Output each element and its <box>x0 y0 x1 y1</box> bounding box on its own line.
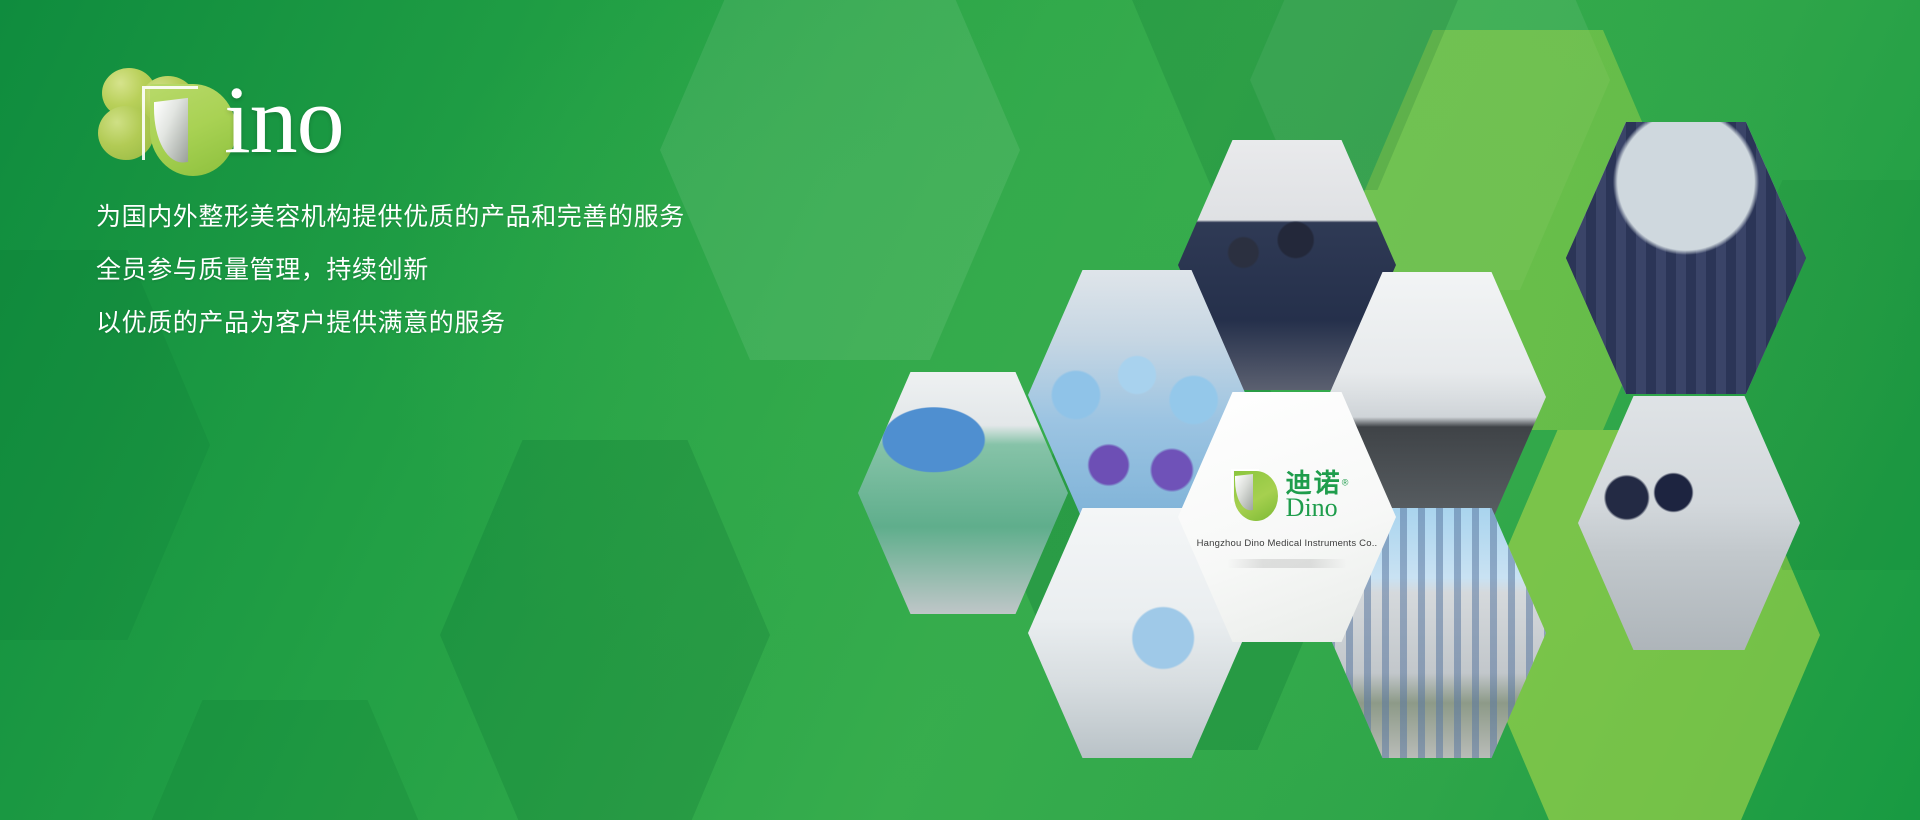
wordmark-text: ino <box>224 72 344 168</box>
tagline-list: 为国内外整形美容机构提供优质的产品和完善的服务 全员参与质量管理，持续创新 以优… <box>96 204 816 335</box>
center-logo-placeholder-bar <box>1227 559 1347 568</box>
photo-cnc-workshop-image <box>1578 396 1800 650</box>
brand-block: ino 为国内外整形美容机构提供优质的产品和完善的服务 全员参与质量管理，持续创… <box>96 66 816 335</box>
center-logo-lockup: 迪诺® Dino <box>1226 467 1349 525</box>
d-letter-leaf-icon <box>132 84 236 178</box>
dino-leaf-icon <box>1226 467 1280 525</box>
dino-wordmark: ino <box>96 66 816 178</box>
photo-team-group-image <box>1566 122 1806 394</box>
registered-trademark-icon: ® <box>1342 477 1349 487</box>
center-logo-company-line: Hangzhou Dino Medical Instruments Co.. <box>1197 538 1378 549</box>
photo-team-group <box>1566 122 1806 394</box>
tagline-1: 为国内外整形美容机构提供优质的产品和完善的服务 <box>96 204 816 229</box>
tagline-2: 全员参与质量管理，持续创新 <box>96 257 816 282</box>
tagline-3: 以优质的产品为客户提供满意的服务 <box>96 310 816 335</box>
photo-cnc-workshop <box>1578 396 1800 650</box>
hero-banner: 迪诺® Dino Hangzhou Dino Medical Instrumen… <box>0 0 1920 820</box>
